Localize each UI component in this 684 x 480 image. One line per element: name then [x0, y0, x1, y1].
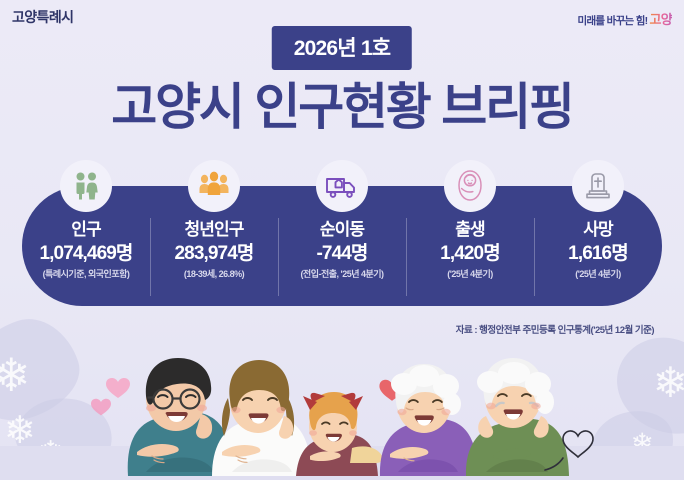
stats-row: 인구 1,074,469명 (특례시기준, 외국인포함) 청년인구 283,97…: [22, 160, 662, 306]
gravestone-icon: [572, 160, 624, 212]
city-logo: 고양특례시: [12, 7, 73, 27]
issue-badge: 2026년 1호: [272, 26, 412, 70]
person-child: [296, 392, 383, 476]
family-illustration: [0, 340, 684, 480]
stat-value: 1,616명: [568, 244, 628, 263]
stat-note: ('25년 4분기): [447, 270, 493, 279]
stat-card-births: 출생 1,420명 ('25년 4분기): [406, 160, 534, 306]
stat-label: 사망: [583, 221, 612, 238]
people-group-icon: [188, 160, 240, 212]
stat-card-net-migration: 순이동 -744명 (전입-전출, '25년 4분기): [278, 160, 406, 306]
stat-value: 1,420명: [440, 244, 500, 263]
source-note: 자료 : 행정안전부 주민등록 인구통계('25년 12월 기준): [456, 322, 654, 336]
brand-slogan-text: 미래를 바꾸는 힘!: [578, 15, 648, 27]
stat-card-youth-population: 청년인구 283,974명 (18-39세, 26.8%): [150, 160, 278, 306]
stat-card-population: 인구 1,074,469명 (특례시기준, 외국인포함): [22, 160, 150, 306]
city-brand-slogan: 미래를 바꾸는 힘!고양: [578, 9, 672, 28]
brand-name-text: 고양: [649, 12, 672, 27]
two-people-icon: [60, 160, 112, 212]
stat-note: (전입-전출, '25년 4분기): [300, 270, 383, 279]
infographic-poster: ❄ ❄ ❄ ❄ ❄ 고양특례시 미래를 바꾸는 힘!고양 2026년 1호 고양…: [0, 0, 684, 480]
stat-label: 순이동: [320, 221, 364, 238]
stat-label: 청년인구: [185, 221, 244, 238]
person-mother: [212, 360, 312, 476]
page-title: 고양시 인구현황 브리핑: [0, 82, 684, 132]
stat-card-deaths: 사망 1,616명 ('25년 4분기): [534, 160, 662, 306]
stat-value: -744명: [316, 244, 367, 263]
stat-note: (18-39세, 26.8%): [184, 270, 244, 279]
stat-note: (특례시기준, 외국인포함): [43, 270, 130, 279]
stat-label: 출생: [455, 221, 484, 238]
moving-truck-icon: [316, 160, 368, 212]
stat-value: 1,074,469명: [39, 244, 132, 263]
stat-label: 인구: [71, 221, 100, 238]
person-grandmother: [380, 364, 478, 476]
person-grandfather: [466, 358, 569, 476]
stat-note: ('25년 4분기): [575, 270, 621, 279]
swaddled-baby-icon: [444, 160, 496, 212]
heart-decoration: [91, 378, 130, 415]
stat-value: 283,974명: [175, 244, 254, 263]
